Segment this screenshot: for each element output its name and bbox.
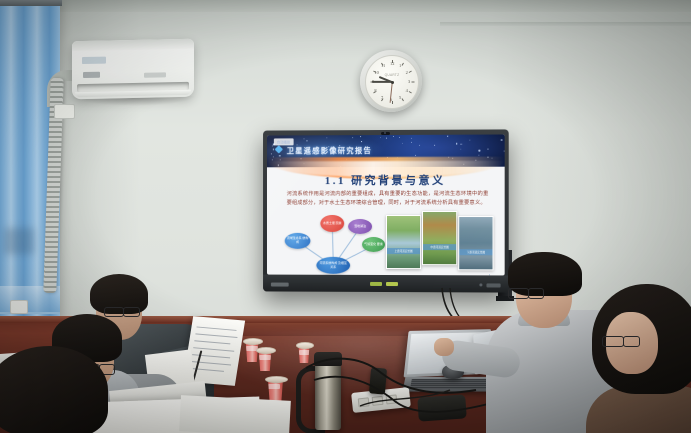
banner-star (435, 145, 436, 146)
ac-top-grille (72, 39, 194, 52)
curtain-fold-shadow (4, 228, 34, 254)
banner-star (462, 144, 463, 145)
banner-star (360, 136, 361, 137)
diagram-node: 河流系统构成 及相互关系 (316, 257, 350, 274)
clock-center-pin (391, 81, 394, 84)
banner-star (419, 145, 420, 146)
river-photo-2-caption: 中游河道实景图 (423, 244, 456, 250)
diagram-node: 流域生态系 统构成 (285, 233, 311, 249)
banner-star (279, 155, 280, 156)
diagram-node: 水质土壤 因素 (320, 215, 344, 232)
presentation-slide: 卫星遥感影像研究报告 自动播放 1.1 研究背景与意义 河流系统作用是河流内部的… (267, 134, 505, 275)
clock-numeral: 5 (399, 96, 401, 100)
photo-strip: 上游河道实景图 中游河道实景图 下游河道实景图 图2 河流系统实景图 1 (386, 211, 493, 275)
wall-socket (10, 300, 28, 314)
relationship-diagram: 水质土壤 因素湿地湖泊流域生态系 统构成气候变化 要素河流系统构成 及相互关系 … (283, 213, 390, 275)
eyeglasses-icon (528, 288, 544, 299)
banner-star (461, 149, 462, 150)
eyeglasses-icon (602, 336, 624, 347)
clock-numeral: 10 (374, 71, 378, 75)
ac-brand-logo (83, 72, 100, 78)
clock-numeral: 3 (408, 80, 410, 84)
banner-star (503, 151, 504, 152)
analog-wall-clock: QUARTZ 121234567891011 (360, 50, 422, 112)
banner-star (479, 150, 480, 151)
eyeglasses-icon (623, 336, 640, 347)
slide-corner-tag: 自动播放 (274, 138, 293, 145)
wall-plate (54, 104, 75, 119)
slide-banner-title: 卫星遥感影像研究报告 (287, 145, 372, 156)
clock-numeral: 4 (406, 89, 408, 93)
person-woman-brown-top (596, 288, 691, 433)
banner-star (326, 137, 327, 138)
clock-numeral: 12 (390, 62, 394, 66)
banner-star-field (267, 134, 505, 135)
banner-star (402, 143, 403, 144)
clock-numeral: 2 (406, 71, 408, 75)
eyeglasses-icon (104, 307, 124, 317)
person-foreground-left (0, 346, 116, 433)
ac-display-badge (82, 57, 106, 65)
ac-model-mark (144, 72, 166, 77)
river-photo-2: 中游河道实景图 (422, 211, 457, 265)
eyeglasses-icon (123, 307, 140, 317)
slide-title: 1.1 研究背景与意义 (267, 172, 505, 188)
clock-minute-hand (372, 81, 392, 83)
banner-star (393, 136, 394, 137)
papers-foreground[interactable] (179, 395, 291, 433)
river-photo-3-caption: 下游河道实景图 (459, 249, 492, 255)
panel-brand-logo (271, 283, 289, 287)
panel-screen[interactable]: 卫星遥感影像研究报告 自动播放 1.1 研究背景与意义 河流系统作用是河流内部的… (267, 134, 505, 275)
banner-star (456, 143, 457, 144)
ac-bottom-lip (75, 90, 191, 97)
status-indicator[interactable] (386, 282, 398, 286)
clock-numeral: 1 (399, 64, 401, 68)
eyeglasses-icon (508, 288, 529, 299)
hair (0, 346, 108, 433)
clock-numeral: 7 (381, 96, 383, 100)
clock-face: QUARTZ 121234567891011 (365, 55, 419, 109)
clock-numeral: 11 (381, 64, 385, 68)
banner-star (411, 142, 412, 143)
curtain-rail (0, 0, 62, 6)
power-indicator[interactable] (370, 282, 382, 286)
banner-star (352, 137, 353, 138)
diagram-node: 气候变化 要素 (362, 237, 385, 252)
banner-star (271, 154, 272, 155)
slide-banner: 卫星遥感影像研究报告 (267, 134, 505, 167)
hand-on-mouse (434, 338, 454, 356)
banner-star (272, 146, 273, 147)
interactive-flat-panel[interactable]: 卫星遥感影像研究报告 自动播放 1.1 研究背景与意义 河流系统作用是河流内部的… (263, 129, 509, 292)
slide-body-text: 河流系统作用是河流内部的重要组成，具有重要的生态功能，是河流生态环境中的重要组成… (287, 190, 489, 208)
river-photo-1: 上游河道实景图 (386, 215, 421, 269)
split-air-conditioner (72, 39, 194, 100)
banner-star (380, 137, 381, 138)
banner-star (399, 137, 400, 138)
river-photo-1-caption: 上游河道实景图 (387, 248, 420, 254)
diagram-node: 湿地湖泊 (348, 219, 372, 234)
clock-numeral: 8 (374, 89, 376, 93)
banner-star (501, 139, 502, 140)
banner-diamond-icon (275, 145, 283, 153)
banner-star (361, 141, 362, 142)
river-photo-3: 下游河道实景图 (458, 216, 493, 270)
meeting-room-screenshot: QUARTZ 121234567891011 卫星遥感影像研究报告 自动 (0, 0, 691, 433)
banner-star (478, 155, 479, 156)
banner-star (415, 155, 416, 156)
